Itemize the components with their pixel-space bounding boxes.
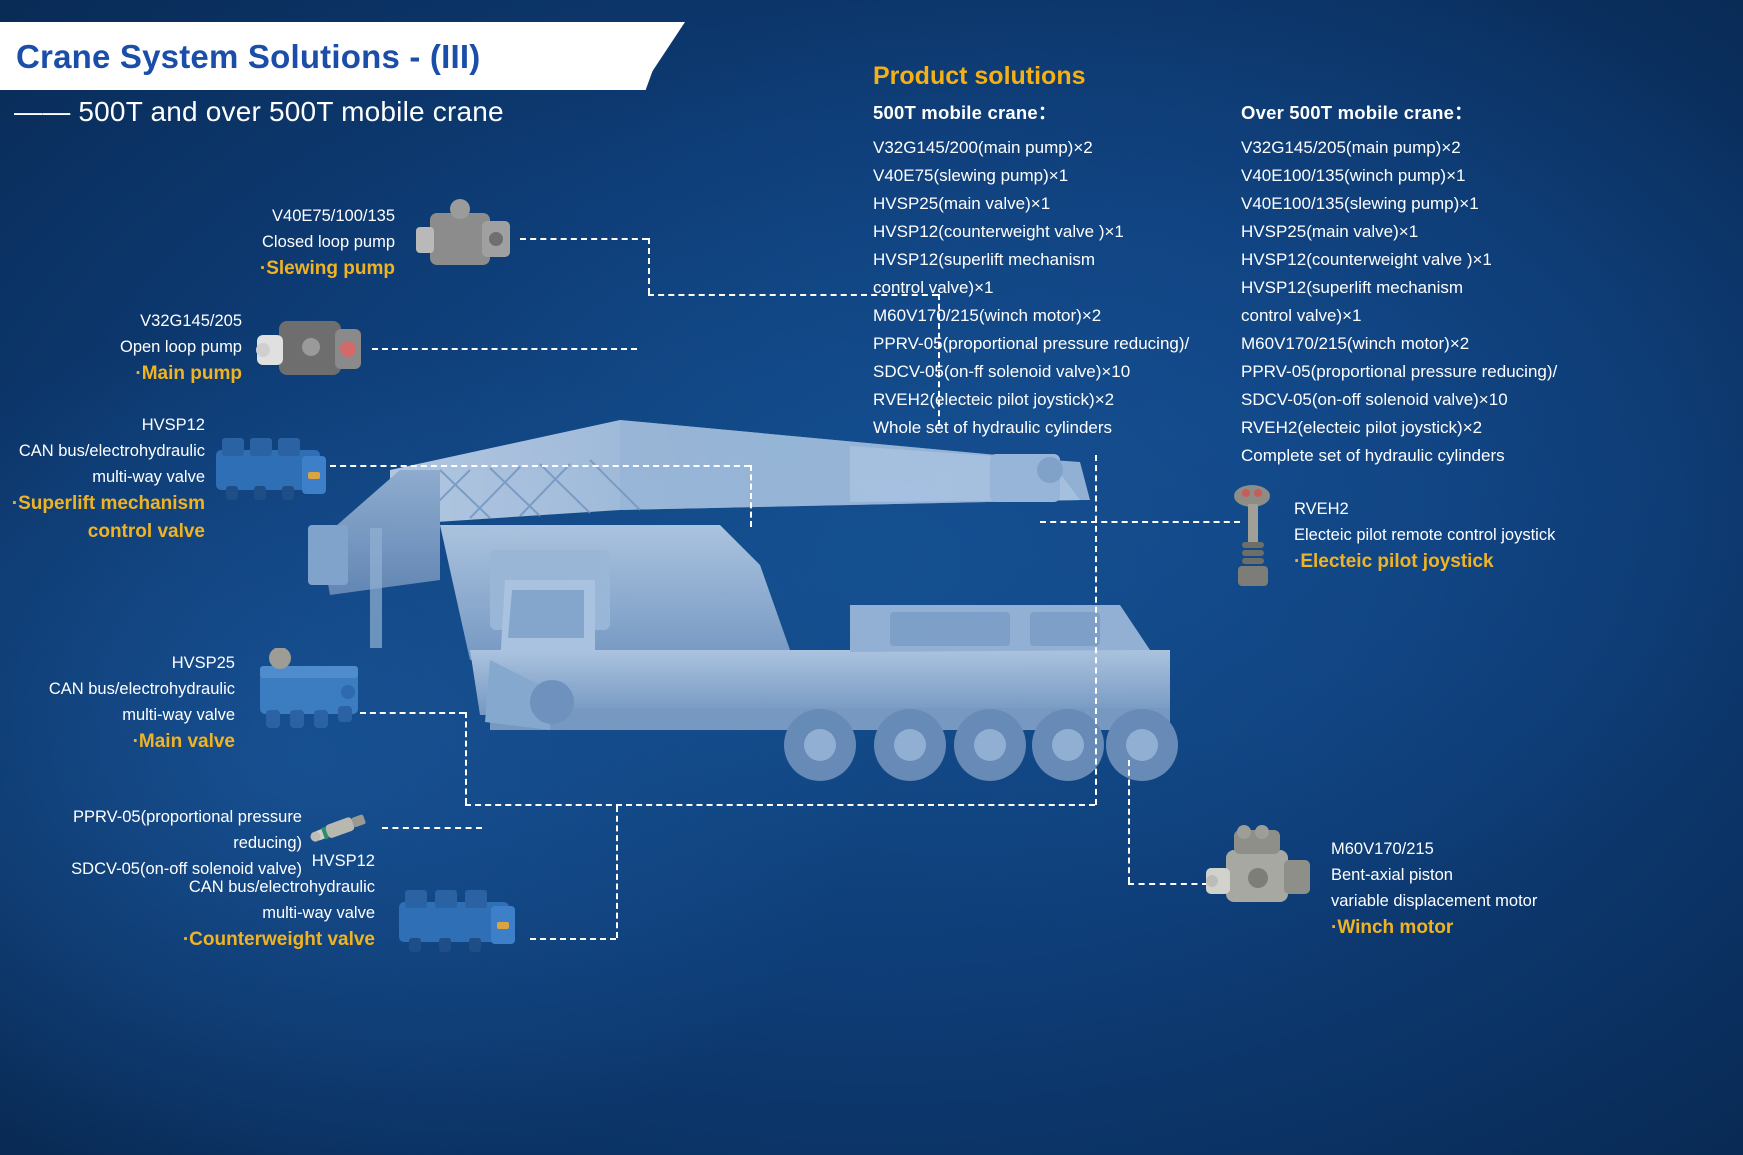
spec-line: V32G145/205(main pump)×2: [1241, 134, 1621, 162]
spec-line: HVSP25(main valve)×1: [873, 190, 1253, 218]
main-valve-image: [248, 648, 370, 738]
callout-line: HVSP25: [20, 650, 235, 676]
callout-line: CAN bus/electrohydraulic: [120, 874, 375, 900]
page-subtitle: —— 500T and over 500T mobile crane: [14, 96, 504, 128]
callout-slewing-pump: V40E75/100/135 Closed loop pump ·Slewing…: [160, 203, 395, 283]
callout-line: CAN bus/electrohydraulic: [20, 676, 235, 702]
callout-line: HVSP12: [120, 848, 375, 874]
leader-line-slewing-pump-v2: [938, 294, 940, 426]
callout-highlight: ·Superlift mechanism: [0, 490, 205, 518]
callout-line: V40E75/100/135: [160, 203, 395, 229]
spec-line: PPRV-05(proportional pressure reducing)/: [873, 330, 1253, 358]
leader-line-slewing-pump-h2: [648, 294, 938, 296]
counterweight-valve-image: [393, 878, 521, 958]
column-heading-over-500t: Over 500T mobile crane：: [1241, 99, 1621, 125]
spec-line: HVSP12(counterweight valve )×1: [873, 218, 1253, 246]
winch-motor-image: [1200, 820, 1320, 925]
callout-line: multi-way valve: [120, 900, 375, 926]
spec-line: RVEH2(electeic pilot joystick)×2: [873, 386, 1253, 414]
product-solutions-title: Product solutions: [873, 62, 1086, 91]
callout-line: HVSP12: [0, 412, 205, 438]
callout-line: multi-way valve: [0, 464, 205, 490]
callout-line: Electeic pilot remote control joystick: [1294, 522, 1624, 548]
callout-main-pump: V32G145/205 Open loop pump ·Main pump: [30, 308, 242, 388]
spec-line: SDCV-05(on-off solenoid valve)×10: [1241, 386, 1621, 414]
main-pump-image: [253, 305, 368, 395]
callout-line: Open loop pump: [30, 334, 242, 360]
leader-line-slewing-pump-h1: [520, 238, 648, 240]
callout-line: V32G145/205: [30, 308, 242, 334]
leader-line-main-valve-h2: [465, 804, 1095, 806]
callout-counterweight-valve: HVSP12 CAN bus/electrohydraulic multi-wa…: [120, 848, 375, 954]
leader-line-superlift-v: [750, 465, 752, 527]
spec-line: control valve)×1: [1241, 302, 1621, 330]
callout-highlight: ·Counterweight valve: [120, 926, 375, 954]
spec-line: HVSP25(main valve)×1: [1241, 218, 1621, 246]
leader-line-slewing-pump-v: [648, 238, 650, 294]
spec-line: control valve)×1: [873, 274, 1253, 302]
callout-line: multi-way valve: [20, 702, 235, 728]
leader-line-superlift-h: [330, 465, 750, 467]
spec-line: HVSP12(superlift mechanism: [1241, 274, 1621, 302]
callout-highlight-2: control valve: [0, 518, 205, 546]
spec-line: PPRV-05(proportional pressure reducing)/: [1241, 358, 1621, 386]
product-solutions-column-500t: 500T mobile crane： V32G145/200(main pump…: [873, 99, 1253, 442]
callout-line: CAN bus/electrohydraulic: [0, 438, 205, 464]
page-title: Crane System Solutions - (III): [16, 34, 616, 80]
spec-line: V40E100/135(slewing pump)×1: [1241, 190, 1621, 218]
callout-line: RVEH2: [1294, 496, 1624, 522]
leader-line-counterweight-v: [616, 806, 618, 938]
callout-highlight: ·Slewing pump: [160, 255, 395, 283]
spec-line: Complete set of hydraulic cylinders: [1241, 442, 1621, 470]
pprv-sdcv-valve-image: [306, 805, 372, 851]
leader-line-main-valve-h: [360, 712, 465, 714]
callout-joystick: RVEH2 Electeic pilot remote control joys…: [1294, 496, 1624, 576]
leader-line-counterweight-h: [530, 938, 616, 940]
leader-line-main-valve-v: [465, 712, 467, 804]
spec-line: M60V170/215(winch motor)×2: [1241, 330, 1621, 358]
spec-line: SDCV-05(on-ff solenoid valve)×10: [873, 358, 1253, 386]
callout-highlight: ·Main pump: [30, 360, 242, 388]
spec-line: Whole set of hydraulic cylinders: [873, 414, 1253, 442]
spec-line: HVSP12(counterweight valve )×1: [1241, 246, 1621, 274]
callout-highlight: ·Winch motor: [1331, 914, 1631, 942]
poster-canvas: Crane System Solutions - (III) —— 500T a…: [0, 0, 1743, 1155]
callout-line: Closed loop pump: [160, 229, 395, 255]
callout-superlift-valve: HVSP12 CAN bus/electrohydraulic multi-wa…: [0, 412, 205, 546]
callout-highlight: ·Electeic pilot joystick: [1294, 548, 1624, 576]
slewing-pump-image: [410, 195, 520, 285]
callout-winch-motor: M60V170/215 Bent-axial piston variable d…: [1331, 836, 1631, 942]
product-solutions-column-over-500t: Over 500T mobile crane： V32G145/205(main…: [1241, 99, 1621, 470]
spec-line: RVEH2(electeic pilot joystick)×2: [1241, 414, 1621, 442]
superlift-valve-image: [212, 428, 330, 506]
spec-line: M60V170/215(winch motor)×2: [873, 302, 1253, 330]
callout-line: Bent-axial piston: [1331, 862, 1631, 888]
column-heading-500t: 500T mobile crane：: [873, 99, 1253, 125]
spec-line: HVSP12(superlift mechanism: [873, 246, 1253, 274]
leader-line-main-valve-v2: [1095, 455, 1097, 805]
callout-line: M60V170/215: [1331, 836, 1631, 862]
callout-highlight: ·Main valve: [20, 728, 235, 756]
spec-line: V32G145/200(main pump)×2: [873, 134, 1253, 162]
spec-line: V40E100/135(winch pump)×1: [1241, 162, 1621, 190]
leader-line-pprv-h: [382, 827, 482, 829]
leader-line-main-pump-h: [372, 348, 637, 350]
leader-line-winch-h: [1128, 883, 1208, 885]
leader-line-winch-v: [1128, 760, 1130, 883]
callout-line: variable displacement motor: [1331, 888, 1631, 914]
joystick-image: [1228, 480, 1284, 590]
callout-main-valve: HVSP25 CAN bus/electrohydraulic multi-wa…: [20, 650, 235, 756]
spec-line: V40E75(slewing pump)×1: [873, 162, 1253, 190]
leader-line-joystick-h: [1040, 521, 1240, 523]
